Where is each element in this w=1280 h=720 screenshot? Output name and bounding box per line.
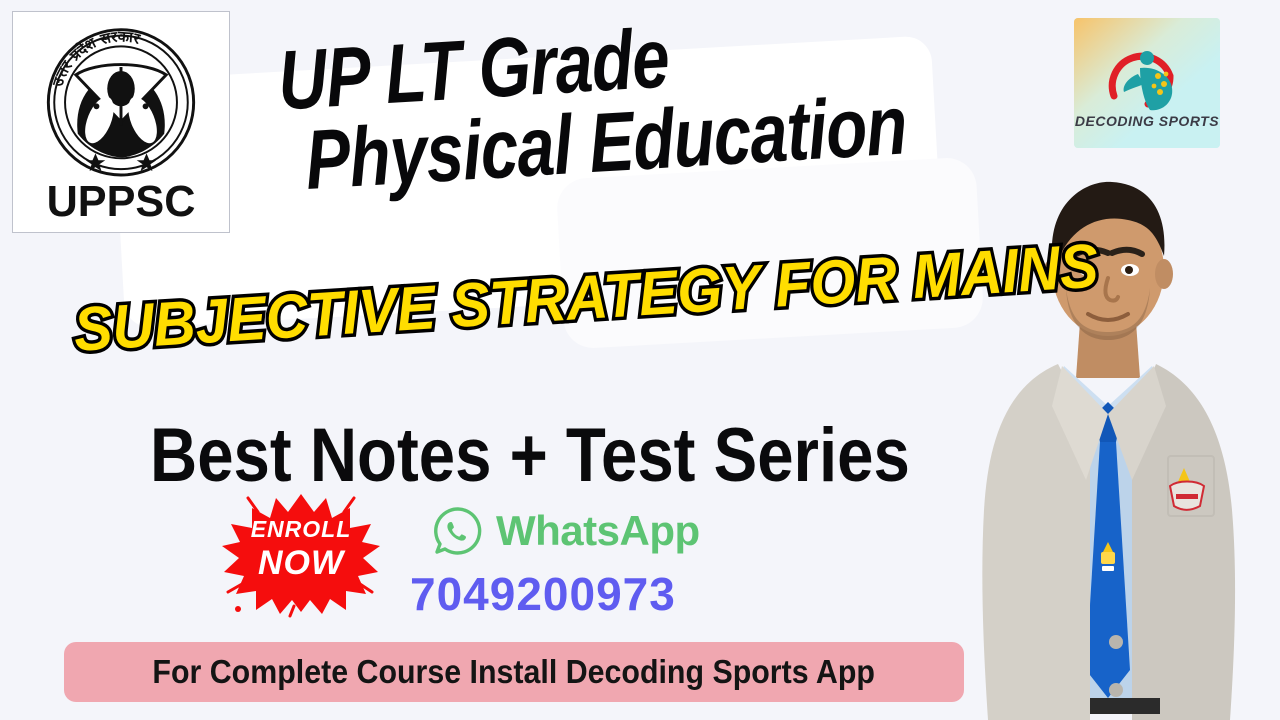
whatsapp-contact-block[interactable]: WhatsApp — [432, 505, 700, 557]
offer-line: Best Notes + Test Series — [150, 418, 910, 494]
decoding-sports-caption: DECODING SPORTS — [1075, 113, 1219, 129]
bottom-cta-text: For Complete Course Install Decoding Spo… — [153, 653, 876, 691]
enroll-now-badge[interactable]: ENROLL NOW — [222, 492, 380, 614]
promotional-poster: उत्तर प्रदेश सरकार UPPSC — [0, 0, 1280, 720]
uppsc-logo-caption: UPPSC — [47, 178, 196, 226]
uppsc-logo: उत्तर प्रदेश सरकार UPPSC — [12, 11, 230, 233]
bottom-cta-bar[interactable]: For Complete Course Install Decoding Spo… — [64, 642, 964, 702]
whatsapp-label: WhatsApp — [496, 507, 700, 555]
decoding-sports-logo: DECODING SPORTS — [1074, 18, 1220, 148]
starburst-icon — [222, 492, 380, 614]
whatsapp-icon — [432, 505, 484, 557]
phone-number[interactable]: 7049200973 — [410, 567, 676, 621]
